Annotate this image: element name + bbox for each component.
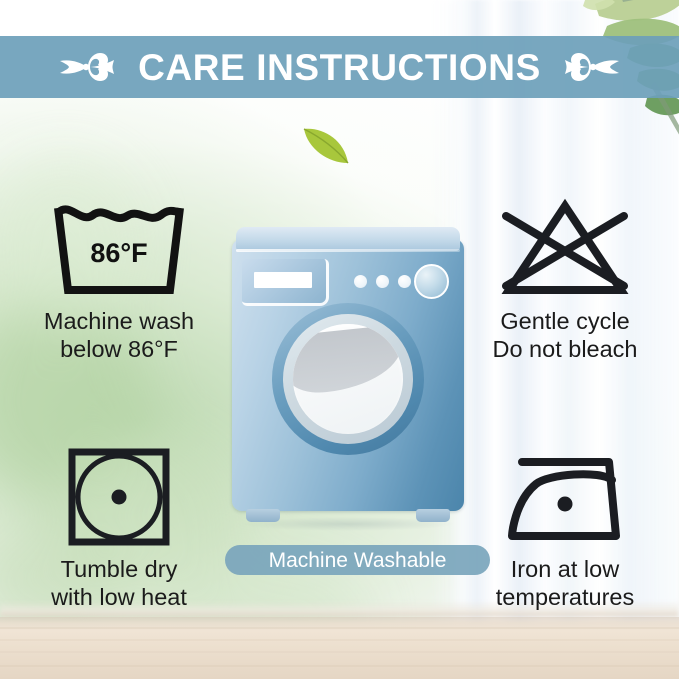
machine-top-lid bbox=[236, 227, 460, 251]
care-item-gentle-cycle-do-not-bleach: Gentle cycle Do not bleach bbox=[460, 196, 670, 363]
tumble-dry-square-icon bbox=[14, 444, 224, 550]
care-item-caption: Gentle cycle Do not bleach bbox=[460, 308, 670, 363]
control-button-2 bbox=[376, 275, 389, 288]
fleur-de-lis-ornament-right-icon bbox=[559, 47, 623, 87]
washer-drum-shadow bbox=[293, 324, 403, 396]
machine-washable-badge-label: Machine Washable bbox=[269, 550, 447, 571]
fleur-de-lis-ornament-left-icon bbox=[56, 47, 120, 87]
washer-door-ring bbox=[283, 314, 413, 444]
control-button-3 bbox=[398, 275, 411, 288]
control-dial bbox=[414, 264, 449, 299]
detergent-drawer-slot bbox=[254, 272, 312, 288]
iron-icon bbox=[460, 444, 670, 550]
care-item-caption: Tumble dry with low heat bbox=[14, 556, 224, 611]
floating-green-leaf-icon bbox=[300, 125, 352, 167]
washer-door bbox=[272, 303, 424, 455]
care-item-machine-wash: 86°F Machine wash below 86°F bbox=[14, 196, 224, 363]
wash-tub-icon: 86°F bbox=[14, 196, 224, 302]
wash-temp-value: 86°F bbox=[90, 238, 147, 268]
washing-machine-illustration bbox=[232, 211, 464, 533]
care-item-caption: Machine wash below 86°F bbox=[14, 308, 224, 363]
header-band: CARE INSTRUCTIONS bbox=[0, 36, 679, 98]
wooden-table-surface bbox=[0, 617, 679, 679]
detergent-drawer bbox=[242, 259, 329, 306]
care-item-iron-low-temp: Iron at low temperatures bbox=[460, 444, 670, 611]
control-button-1 bbox=[354, 275, 367, 288]
page-title: CARE INSTRUCTIONS bbox=[138, 49, 541, 86]
machine-panel-divider bbox=[236, 249, 460, 252]
machine-foot-right bbox=[416, 509, 450, 522]
washer-door-glass bbox=[293, 324, 403, 434]
machine-foot-left bbox=[246, 509, 280, 522]
care-instructions-card: CARE INSTRUCTIONS 86°F Machine wash belo… bbox=[0, 0, 679, 679]
care-item-tumble-dry-low: Tumble dry with low heat bbox=[14, 444, 224, 611]
do-not-bleach-triangle-icon bbox=[460, 196, 670, 302]
care-item-caption: Iron at low temperatures bbox=[460, 556, 670, 611]
machine-washable-badge: Machine Washable bbox=[225, 545, 490, 575]
